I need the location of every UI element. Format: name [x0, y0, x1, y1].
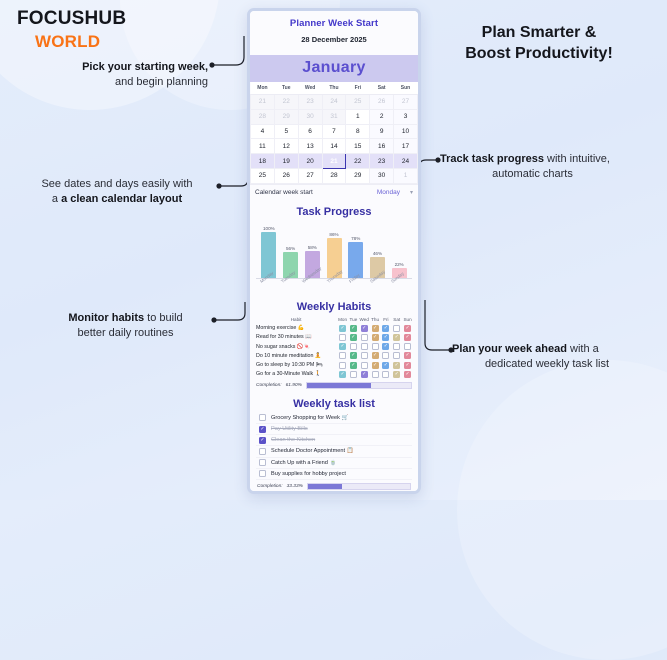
- chart-x-axis-labels: MondayTuesdayWednesdayThursdayFridaySatu…: [256, 279, 412, 294]
- callout-pick-week-line2: and begin planning: [28, 75, 208, 90]
- habit-checkbox-checked[interactable]: ✓: [393, 362, 400, 369]
- calendar-day[interactable]: 27: [298, 168, 322, 183]
- weekly-task-list: Grocery Shopping for Week 🛒✓Pay Utility …: [250, 413, 418, 494]
- habit-checkbox-unchecked[interactable]: [393, 325, 400, 332]
- calendar-day[interactable]: 4: [251, 124, 275, 139]
- task-label: Schedule Doctor Appointment 📋: [271, 448, 354, 454]
- habit-checkbox-unchecked[interactable]: [339, 362, 346, 369]
- calendar-week-row[interactable]: 45678910: [251, 124, 418, 139]
- habit-checkbox-checked[interactable]: ✓: [350, 325, 357, 332]
- habit-cell[interactable]: [337, 333, 348, 342]
- calendar-weekday-wed: Wed: [298, 82, 322, 95]
- chart-bar-value: 46%: [373, 251, 382, 256]
- habit-cell[interactable]: ✓: [348, 351, 359, 360]
- habit-cell[interactable]: ✓: [348, 324, 359, 333]
- calendar-day[interactable]: 22: [274, 95, 298, 110]
- calendar-day[interactable]: 29: [274, 109, 298, 124]
- habit-cell[interactable]: [402, 342, 413, 351]
- habit-cell[interactable]: [391, 342, 402, 351]
- calendar-day[interactable]: 12: [274, 139, 298, 154]
- callout-track-progress: Track task progress with intuitive, auto…: [440, 152, 655, 182]
- calendar-week-row[interactable]: 21222324252627: [251, 95, 418, 110]
- habit-checkbox-unchecked[interactable]: [393, 352, 400, 359]
- habit-name: Morning exercise 💪: [255, 324, 337, 333]
- calendar-day[interactable]: 30: [370, 168, 394, 183]
- chart-bar-column: 56%: [281, 221, 301, 278]
- habit-row: Morning exercise 💪✓✓✓✓✓✓: [255, 324, 413, 333]
- habit-cell[interactable]: [370, 370, 381, 379]
- headline-line-2: Boost Productivity!: [425, 43, 653, 64]
- tasks-completion: Completion: 33.33%: [256, 480, 412, 492]
- callout-calendar-layout-bold: a clean calendar layout: [61, 193, 182, 205]
- calendar-day[interactable]: 7: [322, 124, 346, 139]
- chart-bar-value: 86%: [329, 232, 338, 237]
- habit-row: No sugar snacks 🚫🍬✓✓: [255, 342, 413, 351]
- habit-checkbox-checked[interactable]: ✓: [372, 334, 379, 341]
- habit-cell[interactable]: [359, 351, 370, 360]
- habit-checkbox-unchecked[interactable]: [372, 371, 379, 378]
- habits-col-fri: Fri: [380, 316, 391, 324]
- callout-monitor-habits-bold: Monitor habits: [68, 312, 144, 324]
- habit-cell[interactable]: ✓: [402, 370, 413, 379]
- callout-plan-week-bold: Plan your week ahead: [452, 343, 567, 355]
- habit-checkbox-checked[interactable]: ✓: [382, 362, 389, 369]
- calendar-grid[interactable]: MonTueWedThuFriSatSun 212223242526272829…: [250, 82, 418, 184]
- habit-cell[interactable]: [380, 351, 391, 360]
- habits-col-sat: Sat: [391, 316, 402, 324]
- habit-checkbox-unchecked[interactable]: [382, 371, 389, 378]
- calendar-day[interactable]: 9: [370, 124, 394, 139]
- calendar-day[interactable]: 25: [251, 168, 275, 183]
- calendar-day[interactable]: 14: [322, 139, 346, 154]
- calendar-day[interactable]: 16: [370, 139, 394, 154]
- habit-checkbox-checked[interactable]: ✓: [350, 362, 357, 369]
- habits-completion: Completion: 61.90%: [255, 379, 413, 391]
- habit-cell[interactable]: ✓: [370, 360, 381, 369]
- calendar-day[interactable]: 10: [394, 124, 418, 139]
- habits-progress-bar: [306, 382, 412, 389]
- chart-bar-value: 78%: [351, 236, 360, 241]
- habit-checkbox-checked[interactable]: ✓: [372, 352, 379, 359]
- tasks-progress-bar: [307, 483, 411, 490]
- calendar-day[interactable]: 23: [298, 95, 322, 110]
- habits-col-thu: Thu: [370, 316, 381, 324]
- task-checkbox-checked[interactable]: ✓: [259, 437, 266, 444]
- calendar-day[interactable]: 17: [394, 139, 418, 154]
- habit-cell[interactable]: ✓: [380, 333, 391, 342]
- habit-cell[interactable]: ✓: [348, 360, 359, 369]
- month-label: January: [250, 55, 418, 82]
- habit-cell[interactable]: [337, 351, 348, 360]
- callout-track-progress-bold: Track task progress: [440, 153, 544, 165]
- callout-pick-week: Pick your starting week, and begin plann…: [28, 60, 208, 90]
- brand-line-1: FOCUSHUB: [17, 8, 126, 30]
- task-progress-title: Task Progress: [250, 201, 418, 221]
- habit-cell[interactable]: [380, 370, 391, 379]
- callout-calendar-layout-line1: See dates and days easily with: [41, 178, 192, 190]
- week-start-date[interactable]: 28 December 2025: [250, 29, 418, 51]
- task-row[interactable]: ✓Clean the Kitchen: [256, 435, 412, 446]
- calendar-day-selected[interactable]: 21: [322, 154, 346, 169]
- habit-row: Go to sleep by 10:30 PM 🛏✓✓✓✓✓: [255, 360, 413, 369]
- habits-completion-value: 61.90%: [286, 383, 302, 388]
- calendar-day[interactable]: 31: [322, 109, 346, 124]
- habit-checkbox-checked[interactable]: ✓: [404, 334, 411, 341]
- habit-checkbox-checked[interactable]: ✓: [350, 334, 357, 341]
- habit-cell[interactable]: [359, 360, 370, 369]
- tasks-progress-fill: [308, 484, 342, 489]
- habit-name: Do 10 minute meditation 🧘: [255, 351, 337, 360]
- habit-cell[interactable]: [391, 351, 402, 360]
- calendar-weekday-fri: Fri: [346, 82, 370, 95]
- habit-row: Go for a 30-Minute Walk 🚶✓✓✓✓: [255, 370, 413, 379]
- task-row[interactable]: Buy supplies for hobby project: [256, 469, 412, 480]
- chart-plot-area: 100%56%58%86%78%46%22%: [256, 221, 412, 279]
- calendar-day[interactable]: 30: [298, 109, 322, 124]
- tasks-completion-label: Completion:: [257, 484, 283, 489]
- chart-bar-column: 100%: [259, 221, 279, 278]
- app-preview-device: Planner Week Start 28 December 2025 Janu…: [247, 8, 421, 494]
- calendar-day[interactable]: 23: [370, 154, 394, 169]
- habit-cell[interactable]: ✓: [370, 333, 381, 342]
- callout-track-progress-line2: automatic charts: [440, 167, 625, 182]
- calendar-day[interactable]: 24: [322, 95, 346, 110]
- headline-line-1: Plan Smarter &: [425, 22, 653, 43]
- task-row[interactable]: Catch Up with a Friend 🍵: [256, 458, 412, 469]
- calendar-week-row[interactable]: 11121314151617: [251, 139, 418, 154]
- calendar-day[interactable]: 1: [346, 109, 370, 124]
- callout-track-progress-line1: with intuitive,: [544, 153, 610, 165]
- task-row[interactable]: ✓Pay Utility Bills: [256, 424, 412, 435]
- habit-checkbox-checked[interactable]: ✓: [361, 325, 368, 332]
- habit-cell[interactable]: ✓: [402, 360, 413, 369]
- habit-checkbox-checked[interactable]: ✓: [339, 371, 346, 378]
- habits-col-habit: Habit: [255, 316, 337, 324]
- habit-checkbox-checked[interactable]: ✓: [339, 325, 346, 332]
- planner-title: Planner Week Start: [250, 18, 418, 29]
- habit-cell[interactable]: ✓: [380, 342, 391, 351]
- habit-checkbox-unchecked[interactable]: [361, 343, 368, 350]
- callout-plan-week-line2: dedicated weekly task list: [452, 357, 642, 372]
- habit-cell[interactable]: ✓: [370, 351, 381, 360]
- task-checkbox-unchecked[interactable]: [259, 470, 266, 477]
- calendar-week-start-setting[interactable]: Calendar week start Monday ▾: [250, 184, 418, 201]
- calendar-day[interactable]: 28: [251, 109, 275, 124]
- task-label: Buy supplies for hobby project: [271, 471, 346, 477]
- habits-table-header: HabitMonTueWedThuFriSatSun: [255, 316, 413, 324]
- habit-cell[interactable]: [348, 370, 359, 379]
- habit-cell[interactable]: [359, 333, 370, 342]
- calendar-weekday-header: MonTueWedThuFriSatSun: [251, 82, 418, 95]
- calendar-day[interactable]: 21: [251, 95, 275, 110]
- calendar-weekday-sat: Sat: [370, 82, 394, 95]
- habit-checkbox-checked[interactable]: ✓: [404, 352, 411, 359]
- habit-checkbox-checked[interactable]: ✓: [393, 371, 400, 378]
- habit-cell[interactable]: ✓: [348, 333, 359, 342]
- habit-checkbox-unchecked[interactable]: [361, 334, 368, 341]
- habit-checkbox-checked[interactable]: ✓: [350, 352, 357, 359]
- habit-cell[interactable]: ✓: [402, 351, 413, 360]
- habit-checkbox-checked[interactable]: ✓: [404, 362, 411, 369]
- calendar-day[interactable]: 2: [370, 109, 394, 124]
- calendar-day[interactable]: 1: [394, 168, 418, 183]
- calendar-day[interactable]: 24: [394, 154, 418, 169]
- tasks-completion-value: 33.33%: [287, 484, 303, 489]
- background-blob-3: [457, 360, 667, 660]
- habit-cell[interactable]: [391, 324, 402, 333]
- habit-checkbox-unchecked[interactable]: [339, 352, 346, 359]
- habit-cell[interactable]: ✓: [391, 370, 402, 379]
- habit-checkbox-checked[interactable]: ✓: [404, 371, 411, 378]
- calendar-day[interactable]: 13: [298, 139, 322, 154]
- habit-checkbox-checked[interactable]: ✓: [393, 334, 400, 341]
- calendar-day[interactable]: 25: [346, 95, 370, 110]
- habit-checkbox-unchecked[interactable]: [372, 343, 379, 350]
- calendar-day[interactable]: 22: [346, 154, 370, 169]
- habits-col-mon: Mon: [337, 316, 348, 324]
- habit-cell[interactable]: [359, 342, 370, 351]
- calendar-week-start-label: Calendar week start: [255, 189, 313, 196]
- habit-checkbox-checked[interactable]: ✓: [382, 334, 389, 341]
- calendar-day[interactable]: 15: [346, 139, 370, 154]
- habit-row: Read for 30 minutes 📖✓✓✓✓✓: [255, 333, 413, 342]
- calendar-day[interactable]: 20: [298, 154, 322, 169]
- brand-line-2: WORLD: [35, 32, 126, 52]
- task-label: Pay Utility Bills: [271, 426, 308, 432]
- habit-checkbox-unchecked[interactable]: [350, 343, 357, 350]
- callout-monitor-habits-line2: better daily routines: [38, 326, 213, 341]
- calendar-week-row[interactable]: 28293031123: [251, 109, 418, 124]
- habit-name: Go for a 30-Minute Walk 🚶: [255, 370, 337, 379]
- habit-checkbox-unchecked[interactable]: [404, 343, 411, 350]
- task-row[interactable]: Schedule Doctor Appointment 📋: [256, 446, 412, 457]
- habit-name: Go to sleep by 10:30 PM 🛏: [255, 360, 337, 369]
- habit-checkbox-unchecked[interactable]: [382, 352, 389, 359]
- calendar-weekday-thu: Thu: [322, 82, 346, 95]
- task-label: Clean the Kitchen: [271, 437, 315, 443]
- habit-checkbox-checked[interactable]: ✓: [382, 343, 389, 350]
- calendar-day[interactable]: 3: [394, 109, 418, 124]
- habit-cell[interactable]: ✓: [380, 360, 391, 369]
- calendar-weekday-sun: Sun: [394, 82, 418, 95]
- task-checkbox-checked[interactable]: ✓: [259, 426, 266, 433]
- habit-row: Do 10 minute meditation 🧘✓✓✓: [255, 351, 413, 360]
- callout-plan-week-line1: with a: [567, 343, 599, 355]
- habit-checkbox-checked[interactable]: ✓: [382, 325, 389, 332]
- calendar-weekday-tue: Tue: [274, 82, 298, 95]
- task-checkbox-unchecked[interactable]: [259, 448, 266, 455]
- task-label: Grocery Shopping for Week 🛒: [271, 415, 348, 421]
- calendar-weekday-mon: Mon: [251, 82, 275, 95]
- habit-name: No sugar snacks 🚫🍬: [255, 342, 337, 351]
- brand-logo: FOCUSHUB WORLD: [17, 8, 126, 52]
- habit-cell[interactable]: ✓: [337, 370, 348, 379]
- weekly-habits-section: HabitMonTueWedThuFriSatSun Morning exerc…: [250, 316, 418, 393]
- habits-completion-label: Completion:: [256, 383, 282, 388]
- habit-checkbox-checked[interactable]: ✓: [339, 343, 346, 350]
- calendar-day[interactable]: 5: [274, 124, 298, 139]
- weekly-habits-title: Weekly Habits: [250, 296, 418, 316]
- habit-cell[interactable]: ✓: [337, 342, 348, 351]
- habit-cell[interactable]: [337, 360, 348, 369]
- habits-col-sun: Sun: [402, 316, 413, 324]
- chevron-down-icon[interactable]: ▾: [410, 189, 413, 196]
- weekly-task-list-title: Weekly task list: [250, 393, 418, 413]
- habit-cell[interactable]: ✓: [359, 324, 370, 333]
- habit-cell[interactable]: ✓: [359, 370, 370, 379]
- callout-monitor-habits: Monitor habits to build better daily rou…: [38, 311, 213, 341]
- calendar-week-start-value[interactable]: Monday: [377, 189, 400, 196]
- task-progress-chart: 100%56%58%86%78%46%22% MondayTuesdayWedn…: [250, 221, 418, 296]
- habit-cell[interactable]: ✓: [370, 324, 381, 333]
- task-label: Catch Up with a Friend 🍵: [271, 460, 336, 466]
- task-checkbox-unchecked[interactable]: [259, 459, 266, 466]
- task-checkbox-unchecked[interactable]: [259, 414, 266, 421]
- habit-checkbox-unchecked[interactable]: [393, 343, 400, 350]
- habit-name: Read for 30 minutes 📖: [255, 333, 337, 342]
- habit-cell[interactable]: ✓: [402, 333, 413, 342]
- habit-checkbox-unchecked[interactable]: [361, 352, 368, 359]
- habit-checkbox-unchecked[interactable]: [361, 362, 368, 369]
- habit-checkbox-checked[interactable]: ✓: [372, 325, 379, 332]
- task-row[interactable]: Grocery Shopping for Week 🛒: [256, 413, 412, 424]
- habit-cell[interactable]: ✓: [380, 324, 391, 333]
- callout-plan-week: Plan your week ahead with a dedicated we…: [452, 342, 657, 372]
- calendar-day[interactable]: 29: [346, 168, 370, 183]
- calendar-day[interactable]: 11: [251, 139, 275, 154]
- habit-cell[interactable]: [348, 342, 359, 351]
- habit-cell[interactable]: [370, 342, 381, 351]
- habit-cell[interactable]: ✓: [337, 324, 348, 333]
- calendar-week-row[interactable]: 18192021222324: [251, 154, 418, 169]
- callout-monitor-habits-line1: to build: [144, 312, 183, 324]
- habits-col-wed: Wed: [359, 316, 370, 324]
- habit-checkbox-checked[interactable]: ✓: [372, 362, 379, 369]
- habit-checkbox-checked[interactable]: ✓: [404, 325, 411, 332]
- habit-cell[interactable]: ✓: [391, 360, 402, 369]
- chart-bar-value: 22%: [395, 262, 404, 267]
- calendar-day[interactable]: 19: [274, 154, 298, 169]
- headline: Plan Smarter & Boost Productivity!: [425, 22, 653, 64]
- planner-header: Planner Week Start 28 December 2025: [250, 11, 418, 55]
- habits-col-tue: Tue: [348, 316, 359, 324]
- chart-bar-value: 100%: [263, 226, 275, 231]
- app-screen: Planner Week Start 28 December 2025 Janu…: [250, 11, 418, 491]
- habits-progress-fill: [307, 383, 371, 388]
- calendar-day[interactable]: 6: [298, 124, 322, 139]
- calendar-day[interactable]: 26: [274, 168, 298, 183]
- calendar-day[interactable]: 27: [394, 95, 418, 110]
- habit-cell[interactable]: ✓: [402, 324, 413, 333]
- calendar-day[interactable]: 28: [322, 168, 346, 183]
- habit-checkbox-unchecked[interactable]: [350, 371, 357, 378]
- habit-checkbox-unchecked[interactable]: [339, 334, 346, 341]
- calendar-day[interactable]: 8: [346, 124, 370, 139]
- calendar-day[interactable]: 18: [251, 154, 275, 169]
- habit-checkbox-checked[interactable]: ✓: [361, 371, 368, 378]
- chart-bar-value: 58%: [308, 245, 317, 250]
- calendar-week-row[interactable]: 2526272829301: [251, 168, 418, 183]
- habits-table[interactable]: HabitMonTueWedThuFriSatSun Morning exerc…: [255, 316, 413, 379]
- habit-cell[interactable]: ✓: [391, 333, 402, 342]
- callout-pick-week-line1: Pick your starting week,: [82, 61, 208, 73]
- calendar-day[interactable]: 26: [370, 95, 394, 110]
- callout-calendar-layout: See dates and days easily with a a clean…: [22, 177, 212, 207]
- chart-bar-value: 56%: [286, 246, 295, 251]
